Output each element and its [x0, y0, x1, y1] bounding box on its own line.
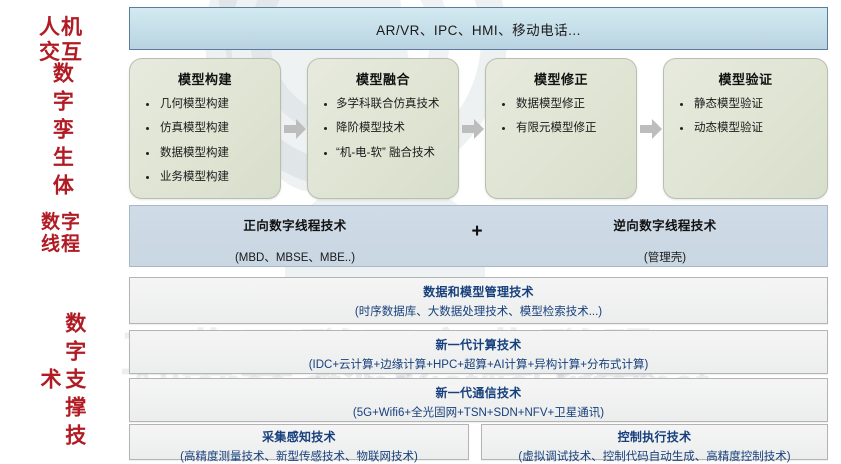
list-item: 静态模型验证	[676, 97, 821, 111]
tier-label-digital-thread: 数字线程	[0, 212, 122, 257]
model-box-item-list: 静态模型验证 动态模型验证	[664, 97, 827, 136]
support-box-subtitle: (IDC+云计算+边缘计算+HPC+超算+AI计算+异构计算+分布式计算)	[130, 356, 827, 372]
list-item: 数据模型修正	[498, 97, 630, 111]
support-box-title: 新一代通信技术	[130, 384, 827, 401]
support-box-subtitle: (高精度测量技术、新型传感技术、物联网技术)	[130, 448, 468, 464]
digital-thread-band: 正向数字线程技术 (MBD、MBSE、MBE..) + 逆向数字线程技术 (管理…	[129, 205, 828, 267]
digital-twin-model-row: 模型构建 几何模型构建 仿真模型构建 数据模型构建 业务模型构建 模型融合 多学…	[129, 58, 828, 199]
forward-thread-title: 正向数字线程技术	[152, 215, 438, 234]
reverse-thread-title: 逆向数字线程技术	[522, 215, 808, 234]
list-item: 业务模型构建	[142, 170, 274, 184]
model-box-correction[interactable]: 模型修正 数据模型修正 有限元模型修正	[485, 58, 637, 199]
list-item: 动态模型验证	[676, 121, 821, 135]
forward-thread-subtitle: (MBD、MBSE、MBE..)	[152, 249, 438, 265]
model-box-validation[interactable]: 模型验证 静态模型验证 动态模型验证	[663, 58, 828, 199]
support-box-title: 采集感知技术	[130, 428, 468, 445]
flow-arrow-right-icon	[462, 119, 484, 139]
tier-label-digital-support-technology: 数字支撑技术	[36, 300, 86, 463]
model-box-title: 模型融合	[308, 69, 458, 88]
support-box-subtitle: (虚拟调试技术、控制代码自动生成、高精度控制技术)	[482, 448, 827, 464]
list-item: “机-电-软” 融合技术	[320, 146, 452, 160]
list-item: 几何模型构建	[142, 97, 274, 111]
model-box-item-list: 几何模型构建 仿真模型构建 数据模型构建 业务模型构建	[130, 97, 280, 185]
reverse-thread-subtitle: (管理壳)	[522, 249, 808, 265]
forward-digital-thread-group[interactable]: 正向数字线程技术 (MBD、MBSE、MBE..)	[152, 215, 438, 265]
diagram-stage: AR/VR、IPC、HMI、移动电话... 模型构建 几何模型构建 仿真模型构建…	[122, 0, 841, 463]
tier-label-human-machine-interaction: 人机交互	[0, 16, 122, 66]
model-box-title: 模型构建	[130, 69, 280, 88]
support-box-title: 新一代计算技术	[130, 336, 827, 353]
model-box-item-list: 多学科联合仿真技术 降阶模型技术 “机-电-软” 融合技术	[308, 97, 458, 160]
support-box-title: 数据和模型管理技术	[130, 283, 827, 300]
support-box-data-model-management[interactable]: 数据和模型管理技术 (时序数据库、大数据处理技术、模型检索技术...)	[129, 277, 828, 324]
support-box-acquisition-sensing[interactable]: 采集感知技术 (高精度测量技术、新型传感技术、物联网技术)	[129, 424, 469, 460]
model-box-construction[interactable]: 模型构建 几何模型构建 仿真模型构建 数据模型构建 业务模型构建	[129, 58, 281, 199]
reverse-digital-thread-group[interactable]: 逆向数字线程技术 (管理壳)	[522, 215, 808, 265]
tier-label-digital-twin: 数字孪生体	[49, 62, 74, 202]
list-item: 多学科联合仿真技术	[320, 97, 452, 111]
tier-label-sidebar: 人机交互 数字孪生体 数字线程 数字支撑技术	[0, 0, 122, 463]
model-box-fusion[interactable]: 模型融合 多学科联合仿真技术 降阶模型技术 “机-电-软” 融合技术	[307, 58, 459, 199]
hmi-banner-label: AR/VR、IPC、HMI、移动电话...	[376, 19, 581, 39]
list-item: 仿真模型构建	[142, 121, 274, 135]
support-box-control-execution[interactable]: 控制执行技术 (虚拟调试技术、控制代码自动生成、高精度控制技术)	[481, 424, 828, 460]
model-box-item-list: 数据模型修正 有限元模型修正	[486, 97, 636, 136]
support-box-next-gen-computing[interactable]: 新一代计算技术 (IDC+云计算+边缘计算+HPC+超算+AI计算+异构计算+分…	[129, 330, 828, 374]
support-box-subtitle: (时序数据库、大数据处理技术、模型检索技术...)	[130, 303, 827, 319]
model-box-title: 模型验证	[664, 69, 827, 88]
support-box-title: 控制执行技术	[482, 428, 827, 445]
support-box-next-gen-communication[interactable]: 新一代通信技术 (5G+Wifi6+全光固网+TSN+SDN+NFV+卫星通讯)	[129, 378, 828, 422]
list-item: 降阶模型技术	[320, 121, 452, 135]
list-item: 数据模型构建	[142, 146, 274, 160]
flow-arrow-right-icon	[640, 119, 662, 139]
model-box-title: 模型修正	[486, 69, 636, 88]
plus-operator-icon: +	[462, 222, 492, 241]
flow-arrow-right-icon	[284, 119, 306, 139]
support-box-subtitle: (5G+Wifi6+全光固网+TSN+SDN+NFV+卫星通讯)	[130, 404, 827, 420]
list-item: 有限元模型修正	[498, 121, 630, 135]
hmi-banner: AR/VR、IPC、HMI、移动电话...	[129, 7, 828, 50]
